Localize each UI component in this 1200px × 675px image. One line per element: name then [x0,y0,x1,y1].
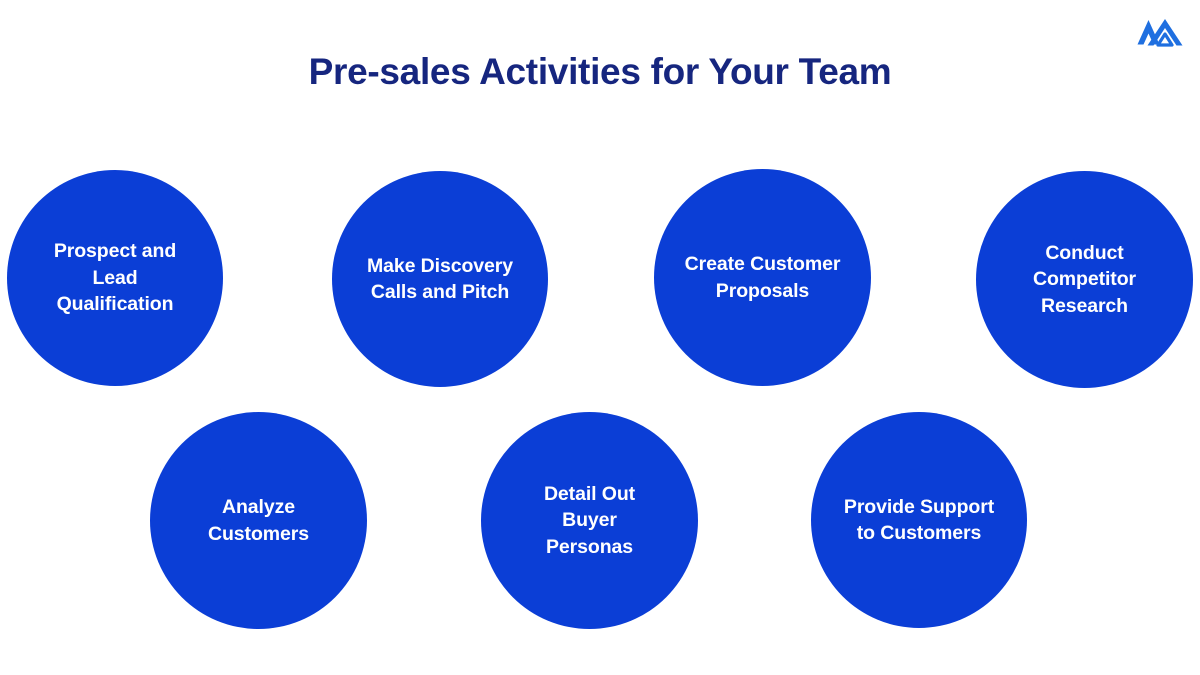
activity-label: Prospect and Lead Qualification [40,238,190,318]
activity-label-line: Competitor [1033,266,1136,293]
activity-label: Conduct Competitor Research [1019,240,1150,320]
activity-label-line: Analyze [208,494,309,521]
activity-circle-provide-support-to-customers[interactable]: Provide Support to Customers [811,412,1027,628]
activity-label-line: Proposals [685,278,841,305]
activity-label-line: Qualification [54,291,176,318]
activity-label-line: Make Discovery [367,253,513,280]
activity-circle-create-customer-proposals[interactable]: Create Customer Proposals [654,169,871,386]
activity-label-line: Personas [544,534,635,561]
activity-label-line: Buyer [544,507,635,534]
activity-circle-conduct-competitor-research[interactable]: Conduct Competitor Research [976,171,1193,388]
page-title: Pre-sales Activities for Your Team [0,48,1200,96]
activity-label-line: Calls and Pitch [367,279,513,306]
activity-label-line: Prospect and [54,238,176,265]
activity-label-line: Conduct [1033,240,1136,267]
activity-label-line: Create Customer [685,251,841,278]
activity-label-line: to Customers [844,520,994,547]
activity-circle-prospect-and-lead-qualification[interactable]: Prospect and Lead Qualification [7,170,223,386]
activity-label-line: Research [1033,293,1136,320]
activity-label-line: Customers [208,521,309,548]
activity-label: Make Discovery Calls and Pitch [353,253,527,306]
activity-label: Analyze Customers [194,494,323,547]
slide-canvas: Pre-sales Activities for Your Team Prosp… [0,0,1200,675]
activity-label: Detail Out Buyer Personas [530,481,649,561]
activity-circle-make-discovery-calls-and-pitch[interactable]: Make Discovery Calls and Pitch [332,171,548,387]
activity-label: Create Customer Proposals [671,251,855,304]
activity-label-line: Provide Support [844,494,994,521]
activity-label-line: Detail Out [544,481,635,508]
activity-label-line: Lead [54,265,176,292]
activity-circle-analyze-customers[interactable]: Analyze Customers [150,412,367,629]
activity-circle-detail-out-buyer-personas[interactable]: Detail Out Buyer Personas [481,412,698,629]
activity-label: Provide Support to Customers [830,494,1008,547]
